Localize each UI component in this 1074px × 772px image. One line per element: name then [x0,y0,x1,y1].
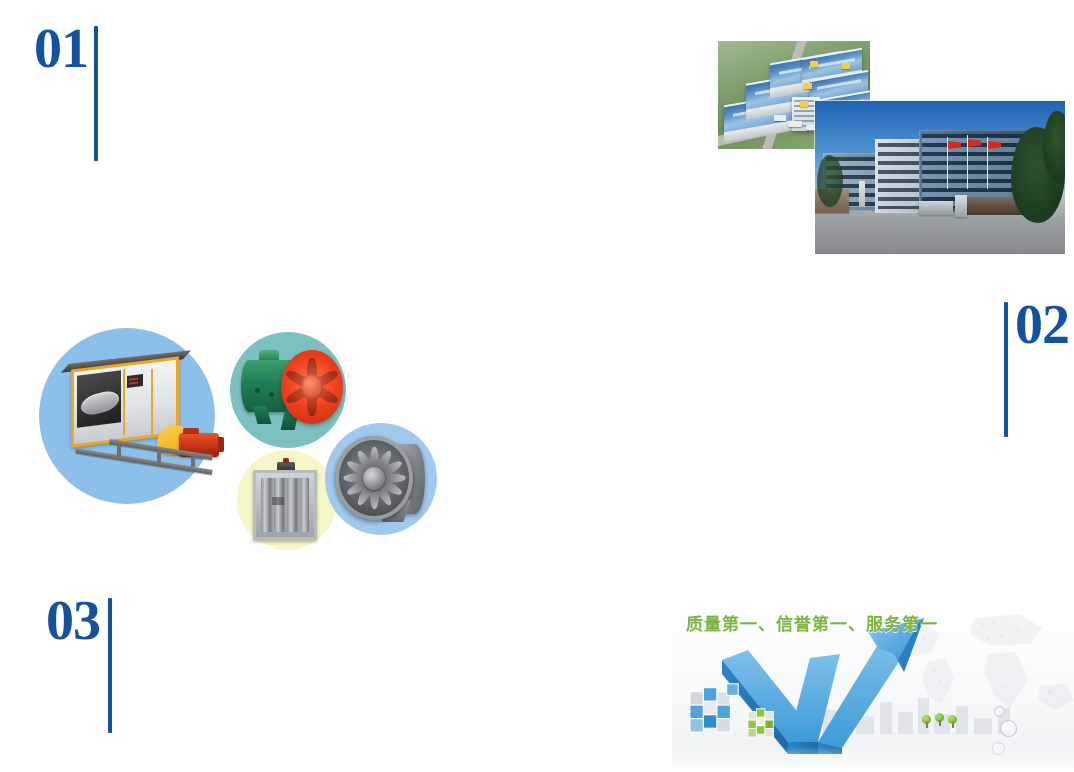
yellow-marker [810,61,818,67]
flagpole [967,135,968,189]
tree [1043,111,1065,181]
section-marker-01: 01 [34,22,98,161]
yellow-marker [800,101,808,107]
fan-impeller [281,350,343,424]
section-rule-03 [108,598,112,733]
bubble-icon [1000,720,1017,737]
section-number-03: 03 [46,594,100,648]
blue-rubik-cube-icon [686,678,744,736]
gate-pillar [955,195,967,217]
fan-impeller [335,436,413,520]
green-rubik-cube-icon [746,704,780,738]
parked-vehicle [774,115,786,121]
page-root: 01 02 03 [0,0,1074,772]
banner-slogan: 质量第一、信誉第一、服务第一 [686,610,938,635]
tree-icon [922,715,931,728]
yellow-marker [842,63,850,69]
guard-post [859,181,865,207]
tree-icon [948,715,957,728]
tree-icon [935,713,944,726]
flagpole [947,137,948,189]
product-collage [25,310,445,560]
flagpole [987,137,988,189]
tree [817,155,843,207]
section-marker-02: 02 [1004,298,1069,437]
entrance-gate [919,201,953,215]
floor-reflection [672,746,1074,772]
cabinet-centrifugal-fan-unit [57,355,217,485]
section-marker-03: 03 [46,594,112,733]
section-rule-02 [1004,302,1008,437]
parked-vehicle [788,121,802,127]
section-rule-01 [94,26,98,161]
section-number-01: 01 [34,22,88,76]
section-number-02: 02 [1015,298,1069,352]
louvered-air-damper [253,462,319,542]
growth-chart-banner: 质量第一、信誉第一、服务第一 [672,596,1074,772]
green-red-axial-flow-fan [237,342,345,440]
metal-axial-duct-fan [333,432,431,528]
yellow-marker [804,83,812,89]
bubble-icon [994,706,1005,717]
office-building-photo [815,101,1065,254]
